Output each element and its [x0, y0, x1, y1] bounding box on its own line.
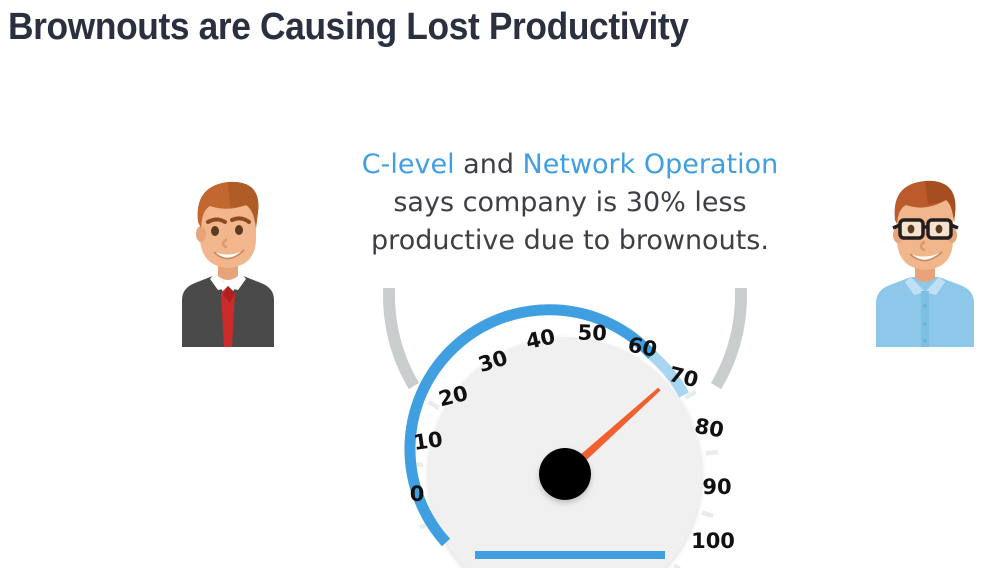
caption-highlight-c-level: C-level [362, 149, 455, 180]
caption-line-1: C-level and Network Operation [330, 146, 810, 184]
gauge-tick-label-50: 50 [577, 321, 607, 346]
caption-line-3: productive due to brownouts. [330, 222, 810, 260]
caption-conjunction: and [455, 149, 523, 180]
network-operations-engineer-avatar [866, 172, 984, 347]
gauge-tick-label-90: 90 [702, 475, 731, 499]
productivity-gauge: 0 10 20 30 40 50 60 70 80 90 100 [370, 288, 760, 568]
page-title: Brownouts are Causing Lost Productivity [8, 4, 845, 50]
gauge-tick-label-100: 100 [691, 529, 735, 553]
gauge-tick-label-0: 0 [410, 482, 425, 506]
c-level-executive-avatar [168, 172, 288, 347]
caption-highlight-network-operation: Network Operation [523, 149, 779, 180]
gauge-tick-label-70: 70 [667, 362, 701, 392]
gauge-hub [539, 448, 591, 500]
caption-block: C-level and Network Operation says compa… [330, 146, 810, 260]
bottom-accent-bar [475, 551, 665, 559]
caption-line-2: says company is 30% less [330, 184, 810, 222]
gauge-tick-label-10: 10 [412, 427, 444, 455]
gauge-tick-label-80: 80 [693, 414, 726, 443]
